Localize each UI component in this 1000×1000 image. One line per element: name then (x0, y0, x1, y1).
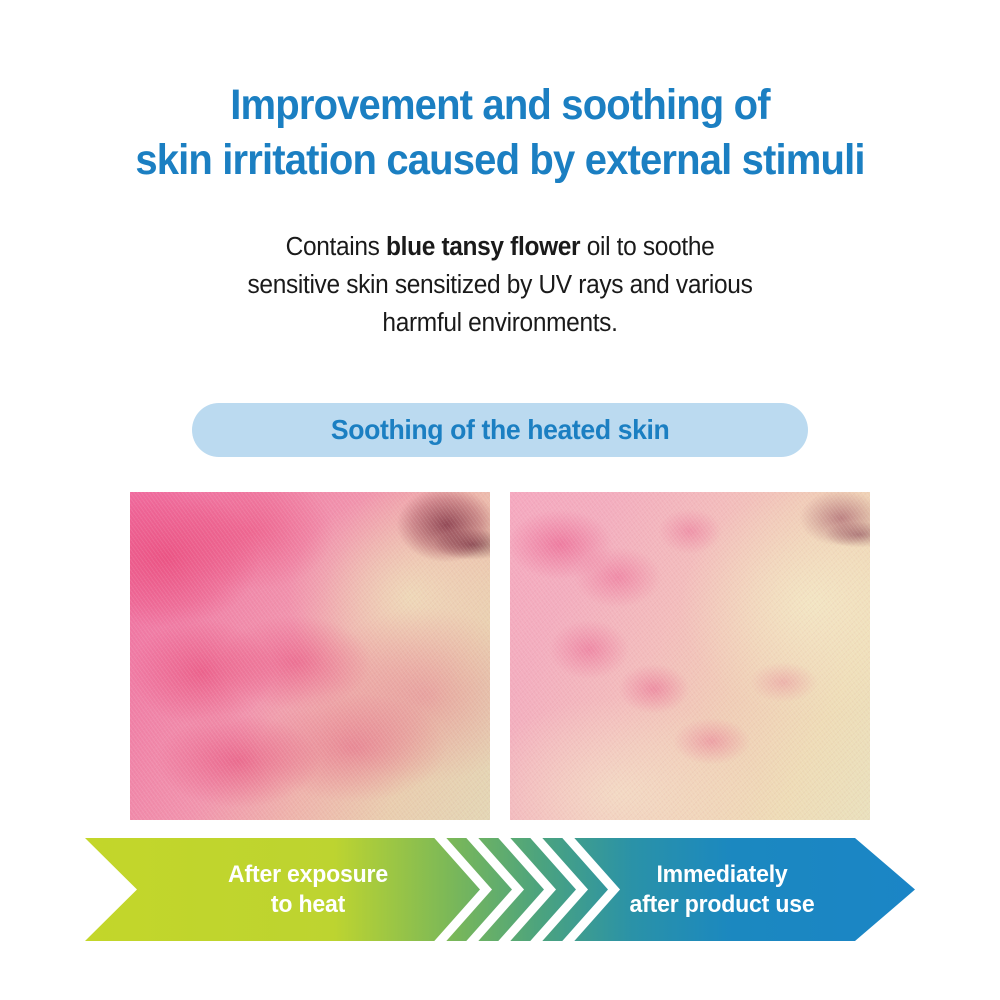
before-stage-label: After exposure to heat (188, 838, 428, 941)
description-prefix: Contains (286, 233, 386, 261)
description-line-1: Contains blue tansy flower oil to soothe (20, 228, 980, 266)
page-title: Improvement and soothing of skin irritat… (35, 78, 965, 188)
after-photo (510, 492, 870, 820)
before-after-photo-pair (130, 492, 870, 820)
after-stage-label-line-1: Immediately (656, 860, 787, 890)
page-title-line-2: skin irritation caused by external stimu… (35, 133, 965, 188)
description-line-2: sensitive skin sensitized by UV rays and… (20, 266, 980, 304)
description-text: Contains blue tansy flower oil to soothe… (20, 228, 980, 342)
before-photo-texture (130, 492, 490, 820)
after-stage-label: Immediately after product use (578, 838, 866, 941)
before-stage-label-line-2: to heat (271, 890, 345, 920)
before-photo (130, 492, 490, 820)
section-badge: Soothing of the heated skin (192, 403, 808, 457)
description-suffix: oil to soothe (580, 233, 714, 261)
description-highlight: blue tansy flower (386, 233, 580, 261)
promo-page: Improvement and soothing of skin irritat… (0, 0, 1000, 1000)
before-stage-label-line-1: After exposure (228, 860, 388, 890)
section-badge-label: Soothing of the heated skin (331, 414, 670, 446)
after-stage-label-line-2: after product use (630, 890, 815, 920)
after-photo-texture (510, 492, 870, 820)
description-line-3: harmful environments. (20, 304, 980, 342)
progress-arrow-banner: After exposure to heat Immediately after… (85, 838, 915, 941)
page-title-line-1: Improvement and soothing of (35, 78, 965, 133)
